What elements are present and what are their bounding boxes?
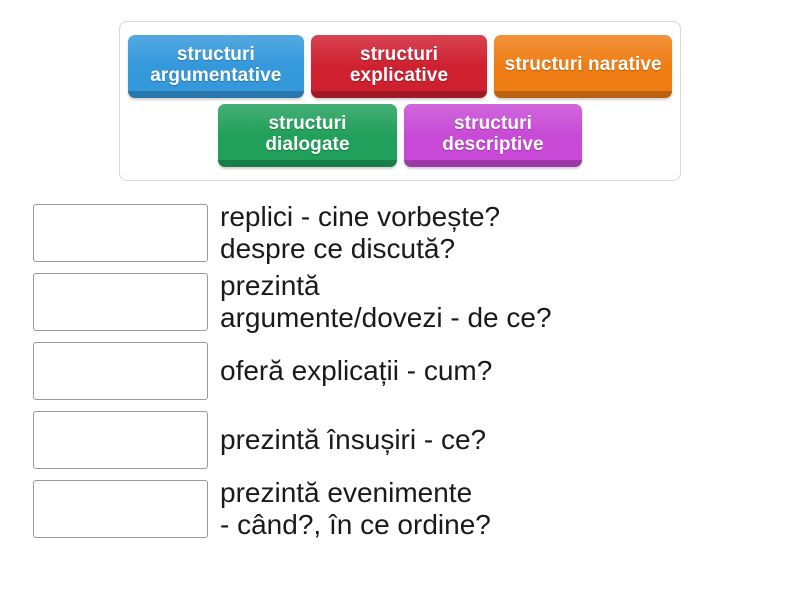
tile-structuri-argumentative[interactable]: structuri argumentative (128, 35, 304, 98)
tile-label: structuri descriptive (413, 113, 573, 156)
tile-label: structuri argumentative (137, 44, 295, 87)
answer-text: prezintă însușiri - ce? (220, 424, 486, 456)
tile-structuri-descriptive[interactable]: structuri descriptive (404, 104, 582, 167)
drop-zone-3[interactable] (33, 342, 208, 400)
tile-bank-row-1: structuri argumentative structuri explic… (128, 35, 672, 98)
answer-text: replici - cine vorbește? despre ce discu… (220, 201, 500, 266)
tile-bank-row-2: structuri dialogate structuri descriptiv… (128, 104, 672, 167)
drop-zone-5[interactable] (33, 480, 208, 538)
answer-text: prezintă argumente/dovezi - de ce? (220, 270, 552, 335)
answer-row: prezintă însușiri - ce? (33, 410, 773, 470)
tile-label: structuri explicative (320, 44, 479, 87)
answer-row: replici - cine vorbește? despre ce discu… (33, 203, 773, 263)
answer-row: oferă explicații - cum? (33, 341, 773, 401)
drop-zone-4[interactable] (33, 411, 208, 469)
tile-structuri-explicative[interactable]: structuri explicative (311, 35, 488, 98)
tile-label: structuri narative (505, 54, 662, 75)
drop-zone-1[interactable] (33, 204, 208, 262)
tile-structuri-dialogate[interactable]: structuri dialogate (218, 104, 397, 167)
answer-text: prezintă evenimente - când?, în ce ordin… (220, 477, 491, 542)
answer-list: replici - cine vorbește? despre ce discu… (33, 203, 773, 548)
tile-structuri-narative[interactable]: structuri narative (494, 35, 672, 98)
tile-label: structuri dialogate (227, 113, 388, 156)
answer-row: prezintă argumente/dovezi - de ce? (33, 272, 773, 332)
tile-bank: structuri argumentative structuri explic… (119, 21, 681, 181)
drop-zone-2[interactable] (33, 273, 208, 331)
answer-text: oferă explicații - cum? (220, 355, 492, 387)
answer-row: prezintă evenimente - când?, în ce ordin… (33, 479, 773, 539)
